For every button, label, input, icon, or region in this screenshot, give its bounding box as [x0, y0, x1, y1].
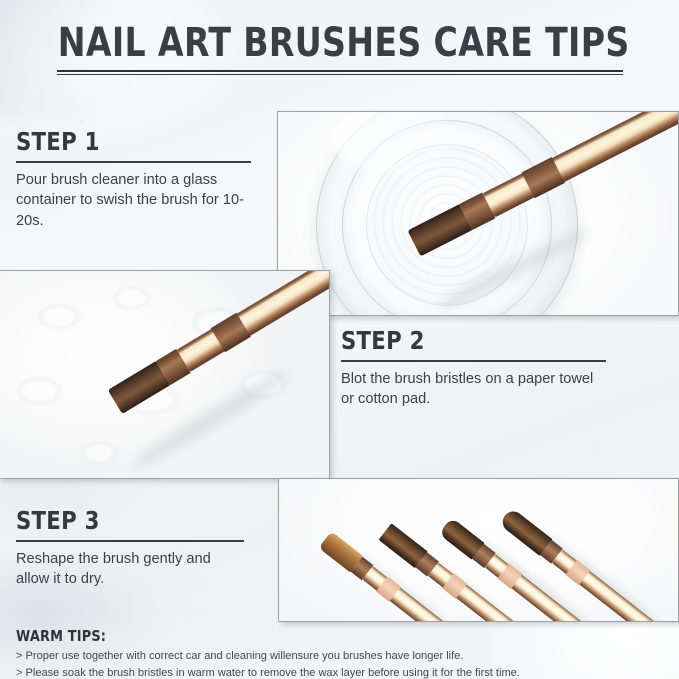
warm-tips-list: > Proper use together with correct car a…: [16, 648, 666, 679]
step-2-body: Blot the brush bristles on a paper towel…: [341, 369, 606, 410]
brush-set-photo: [278, 478, 679, 622]
title-underline: [57, 70, 623, 75]
page-title-wrap: NAIL ART BRUSHES CARE TIPS: [0, 22, 679, 64]
warm-tips-heading: WARM TIPS:: [16, 627, 575, 645]
warm-tip-item: > Proper use together with correct car a…: [16, 648, 647, 665]
glass-container-photo: [277, 111, 679, 316]
page-title: NAIL ART BRUSHES CARE TIPS: [58, 22, 622, 64]
step-1-block: STEP 1 Pour brush cleaner into a glass c…: [16, 128, 251, 232]
warm-tip-item: > Please soak the brush bristles in warm…: [16, 665, 647, 679]
step-1-divider: [16, 161, 251, 163]
step-2-divider: [341, 360, 606, 362]
paper-towel-photo: [0, 270, 330, 479]
step-2-heading: STEP 2: [341, 327, 566, 355]
step-3-divider: [16, 540, 244, 542]
step-1-body: Pour brush cleaner into a glass containe…: [16, 170, 251, 232]
step-1-heading: STEP 1: [16, 128, 216, 156]
title-rule-lower: [57, 74, 623, 75]
step-3-heading: STEP 3: [16, 507, 210, 535]
step-2-block: STEP 2 Blot the brush bristles on a pape…: [341, 327, 606, 410]
infographic-page: NAIL ART BRUSHES CARE TIPS: [0, 0, 679, 679]
step-3-block: STEP 3 Reshape the brush gently and allo…: [16, 507, 244, 590]
warm-tips-block: WARM TIPS: > Proper use together with co…: [16, 627, 666, 679]
step-3-body: Reshape the brush gently and allow it to…: [16, 549, 244, 590]
